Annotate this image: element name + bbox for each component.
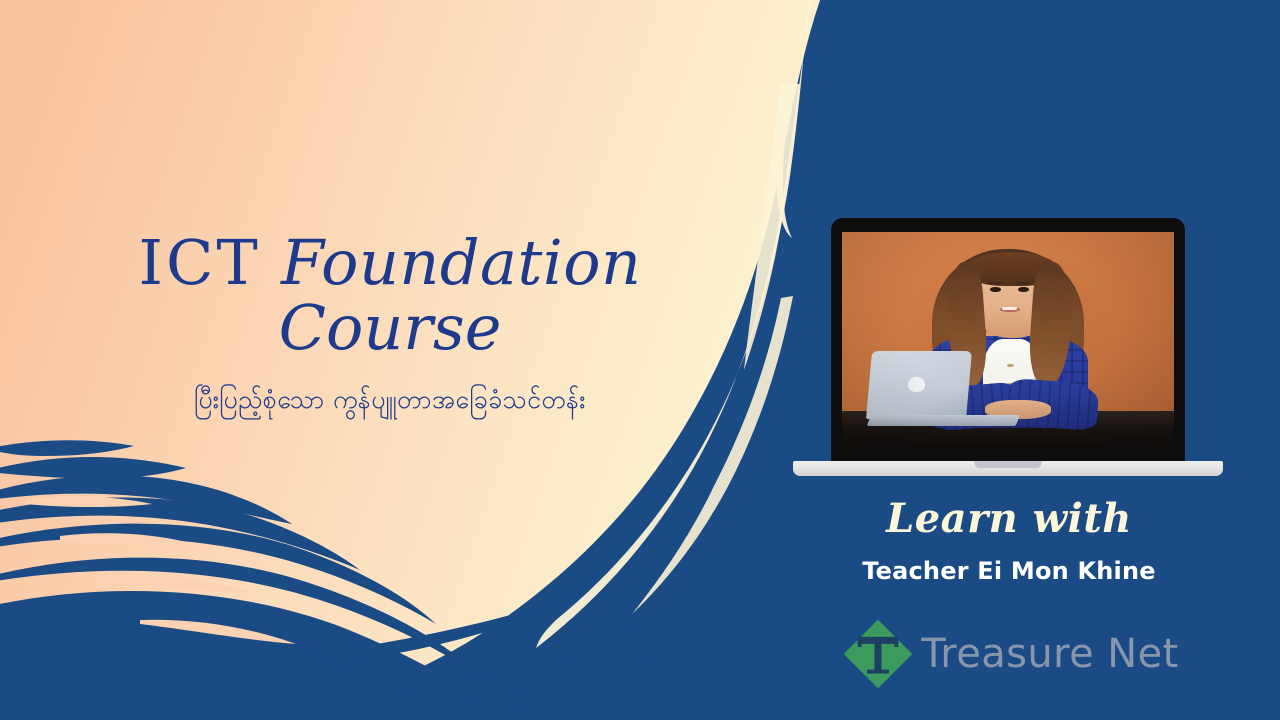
course-title-line2: Course bbox=[60, 293, 720, 362]
learn-with-label: Learn with bbox=[793, 495, 1225, 542]
course-title-line1: ICT Foundation bbox=[60, 228, 720, 297]
brand-name: Treasure Net bbox=[921, 634, 1178, 674]
photo-vignette bbox=[842, 232, 1174, 445]
laptop-lid bbox=[831, 218, 1185, 463]
course-title-word: Foundation bbox=[281, 226, 641, 299]
laptop-notch bbox=[974, 461, 1042, 468]
headline-block: ICT Foundation Course ပြီးပြည့်စုံသော ကွ… bbox=[60, 228, 720, 417]
course-subtitle-burmese: ပြီးပြည့်စုံသော ကွန်ပျူတာအခြေခံသင်တန်း bbox=[60, 383, 720, 417]
teacher-name: Teacher Ei Mon Khine bbox=[793, 557, 1225, 585]
brand-lockup: Treasure Net bbox=[793, 614, 1225, 694]
course-title-acronym: ICT bbox=[139, 226, 261, 299]
slide-canvas: ICT Foundation Course ပြီးပြည့်စုံသော ကွ… bbox=[0, 0, 1280, 720]
treasure-net-diamond-icon bbox=[839, 615, 917, 693]
laptop-screen bbox=[842, 232, 1174, 445]
laptop-mockup bbox=[793, 218, 1223, 493]
